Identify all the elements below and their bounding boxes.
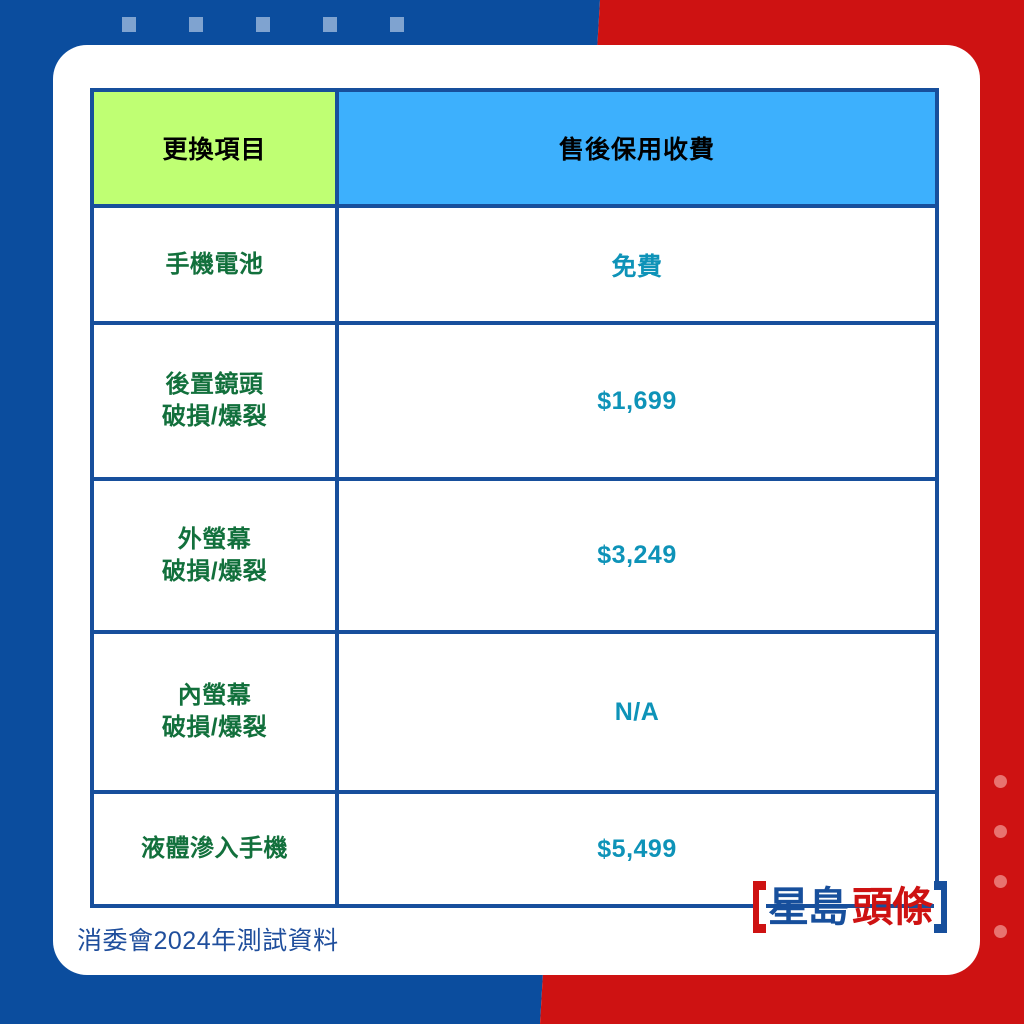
item-label-line: 破損/爆裂 <box>94 556 335 588</box>
decor-square <box>122 17 136 32</box>
table-cell-item: 外螢幕 破損/爆裂 <box>92 479 337 632</box>
table-cell-item: 後置鏡頭 破損/爆裂 <box>92 323 337 479</box>
decor-square <box>390 17 404 32</box>
source-note: 消委會2024年測試資料 <box>77 921 339 957</box>
column-header-item: 更換項目 <box>92 90 337 206</box>
pricing-table: 更換項目 售後保用收費 手機電池 免費 後置鏡頭 破損/爆裂 <box>90 88 939 908</box>
brand-logo: 星島 頭條 <box>753 881 947 933</box>
logo-bracket-right-icon <box>934 881 947 933</box>
item-label-line: 手機電池 <box>94 249 335 281</box>
infographic-canvas: 更換項目 售後保用收費 手機電池 免費 後置鏡頭 破損/爆裂 <box>0 0 1024 1024</box>
table-header-row: 更換項目 售後保用收費 <box>92 90 937 206</box>
decor-dot <box>994 775 1007 788</box>
decor-square <box>189 17 203 32</box>
item-label-line: 外螢幕 <box>94 524 335 556</box>
decor-square <box>323 17 337 32</box>
logo-word-red: 頭條 <box>850 881 934 933</box>
right-decor-dots <box>994 775 1007 938</box>
table-cell-fee: $3,249 <box>337 479 937 632</box>
item-label-line: 破損/爆裂 <box>94 712 335 744</box>
item-label-line: 破損/爆裂 <box>94 401 335 433</box>
item-label-line: 內螢幕 <box>94 680 335 712</box>
pricing-table-wrapper: 更換項目 售後保用收費 手機電池 免費 後置鏡頭 破損/爆裂 <box>90 88 935 908</box>
top-decor-squares <box>122 17 404 32</box>
decor-dot <box>994 925 1007 938</box>
table-row: 內螢幕 破損/爆裂 N/A <box>92 632 937 792</box>
table-body: 手機電池 免費 後置鏡頭 破損/爆裂 $1,699 外螢幕 <box>92 206 937 906</box>
item-label-line: 液體滲入手機 <box>94 833 335 865</box>
table-cell-item: 手機電池 <box>92 206 337 323</box>
decor-square <box>256 17 270 32</box>
item-label-line: 後置鏡頭 <box>94 369 335 401</box>
logo-word-blue: 星島 <box>766 881 850 933</box>
table-row: 後置鏡頭 破損/爆裂 $1,699 <box>92 323 937 479</box>
table-header: 更換項目 售後保用收費 <box>92 90 937 206</box>
table-cell-fee: N/A <box>337 632 937 792</box>
table-cell-fee: $1,699 <box>337 323 937 479</box>
decor-dot <box>994 825 1007 838</box>
column-header-fee: 售後保用收費 <box>337 90 937 206</box>
logo-bracket-left-icon <box>753 881 766 933</box>
table-row: 外螢幕 破損/爆裂 $3,249 <box>92 479 937 632</box>
table-cell-item: 液體滲入手機 <box>92 792 337 906</box>
table-row: 手機電池 免費 <box>92 206 937 323</box>
decor-dot <box>994 875 1007 888</box>
table-cell-fee: 免費 <box>337 206 937 323</box>
content-card: 更換項目 售後保用收費 手機電池 免費 後置鏡頭 破損/爆裂 <box>53 45 980 975</box>
table-cell-item: 內螢幕 破損/爆裂 <box>92 632 337 792</box>
